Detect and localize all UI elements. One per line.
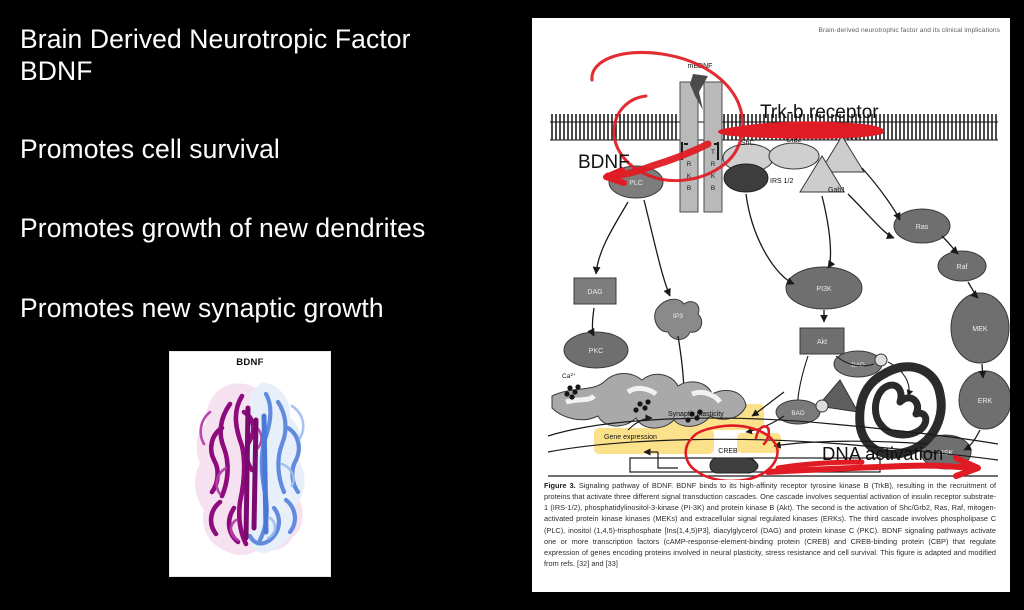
synaptic-plasticity-label: Synaptic plasticity xyxy=(668,411,724,418)
receptor-left-letter-r: R xyxy=(687,161,692,168)
mek-label: MEK xyxy=(972,326,988,333)
ip3-label: IP3 xyxy=(673,313,683,320)
plc-label: PLC xyxy=(629,180,643,187)
bullet-item-new-dendrites: Promotes growth of new dendrites xyxy=(20,213,520,245)
annotation-dna-activation: DNA activation xyxy=(822,443,943,465)
raf-label: Raf xyxy=(957,264,968,271)
pi3k-label: PI3K xyxy=(816,286,832,293)
gene-expression-label: Gene expression xyxy=(604,434,657,441)
bad-label-lower: BAD xyxy=(791,410,805,417)
annotation-bdnf: BDNF xyxy=(578,152,630,174)
pkc-label: PKC xyxy=(589,348,603,355)
page-title-line1: Brain Derived Neurotropic Factor xyxy=(20,24,520,56)
mapk-cascade-group: Ras Raf MEK ERK RSK xyxy=(848,168,1010,469)
dag-label: DAG xyxy=(587,289,602,296)
figure-panel: Brain-derived neurotrophic factor and it… xyxy=(532,18,1010,592)
slide-canvas: Brain Derived Neurotropic Factor BDNF Pr… xyxy=(0,0,1024,610)
trkb-receptor-dimer: T R K B T R K B mBDNF xyxy=(680,63,722,212)
figure-caption-label: Figure 3. xyxy=(544,481,576,490)
figure-caption: Figure 3. Signaling pathway of BDNF. BDN… xyxy=(544,480,996,569)
irs-label: IRS 1/2 xyxy=(770,178,793,185)
erk-label: ERK xyxy=(978,398,993,405)
page-title: Brain Derived Neurotropic Factor BDNF xyxy=(20,24,520,88)
bullet-item-synaptic-growth: Promotes new synaptic growth xyxy=(20,293,520,325)
receptor-left-letter-b: B xyxy=(687,185,691,192)
bdnf-ribbon-illustration xyxy=(170,368,330,573)
pathway-diagram: T R K B T R K B mBDNF ShC Gr xyxy=(532,40,1010,480)
ras-label: Ras xyxy=(916,224,929,231)
receptor-right-letter-t: T xyxy=(711,149,715,156)
bdnf-structure-title: BDNF xyxy=(170,357,330,368)
adaptor-protein-group: ShC Grb2 SOS IRS 1/2 Gab1 xyxy=(723,134,864,194)
receptor-right-letter-b: B xyxy=(711,185,715,192)
bullet-item-cell-survival: Promotes cell survival xyxy=(20,134,520,166)
calcium-label: Ca2+ xyxy=(562,372,576,380)
bdnf-structure-thumbnail: BDNF xyxy=(170,352,330,576)
akt-label: Akt xyxy=(817,339,827,346)
receptor-right-letter-r: R xyxy=(711,161,716,168)
annotation-trkb-receptor: Trk-b receptor xyxy=(760,102,879,124)
pi3k-cascade-group: PI3K Akt BAD BAD xyxy=(746,194,909,432)
shc-label: ShC xyxy=(741,140,755,147)
figure-caption-body: Signaling pathway of BDNF. BDNF binds to… xyxy=(544,481,996,568)
page-title-line2: BDNF xyxy=(20,56,520,88)
running-header: Brain-derived neurotrophic factor and it… xyxy=(819,27,1000,34)
creb-label: CREB xyxy=(718,448,738,455)
gab1-label: Gab1 xyxy=(828,187,845,194)
bullet-list: Brain Derived Neurotropic Factor BDNF Pr… xyxy=(20,24,520,325)
